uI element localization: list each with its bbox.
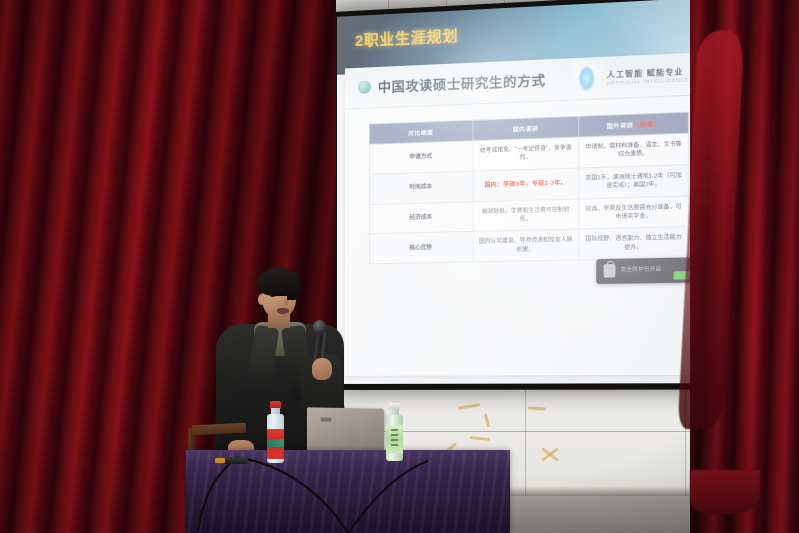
cell-domestic: 统考或推免，“一考定终身”，竞争激烈。 [473, 137, 579, 171]
presenter-mouth [277, 308, 289, 314]
curtain-hem [690, 470, 760, 514]
cell-dimension: 核心优势 [369, 232, 472, 264]
logo-orb-icon [571, 61, 603, 100]
leaf-badge-icon [358, 80, 371, 94]
cell-overseas: 申请制，需材料准备、语言、文书等综合素质。 [579, 133, 688, 168]
toast-text: 安全防护已开启 [621, 265, 662, 273]
cell-domestic: 国内：学硕3年，专硕2-3年。 [473, 168, 579, 202]
slide-content-area: 中国攻读硕士研究生的方式 人工智能 赋能专业 ARTIFICIAL INTELL… [345, 52, 700, 375]
presenter-hand [312, 358, 332, 380]
cable-adapter [224, 457, 248, 464]
water-bottle-red-label[interactable] [266, 401, 285, 463]
laptop-logo [320, 417, 331, 421]
cell-domestic: 相对较低，学费和生活费可控制较低。 [473, 199, 579, 232]
cell-dimension: 申请方式 [369, 141, 472, 175]
cell-domestic: 国内认可度高，导师资源和校友人脉积累。 [473, 229, 579, 262]
slide-notification-toast: 安全防护已开启 [596, 257, 695, 284]
cell-overseas: 英国1年，澳洲硕士通常1-2年（可加速完成）；美国2年。 [579, 164, 688, 198]
tea-bottle-green-label[interactable] [385, 403, 404, 461]
slide-heading: 中国攻读硕士研究生的方式 [378, 70, 546, 96]
slide-logo: 人工智能 赋能专业 ARTIFICIAL INTELLIGENCE [564, 55, 691, 102]
comparison-table: 对比维度 国内读研 国外读研（推荐） 申请方式 统考或推免，“一考定终身”，竞争… [369, 112, 689, 265]
cell-dimension: 时间成本 [369, 171, 472, 204]
col-header-overseas: 国外读研（推荐） [579, 112, 688, 137]
table-body: 申请方式 统考或推免，“一考定终身”，竞争激烈。 申请制，需材料准备、语言、文书… [369, 133, 688, 264]
presenter-ear [258, 294, 265, 305]
cell-overseas: 较高，学费及生活费需充分准备，可申请奖学金。 [579, 196, 688, 230]
lecture-hall-photo: 2职业生涯规划 中国攻读硕士研究生的方式 人工智能 赋能专业 ARTIFICIA… [0, 0, 799, 533]
cell-overseas: 国际视野、语言能力、独立生活能力提升。 [579, 227, 688, 260]
col-header-overseas-label: 国外读研 [607, 123, 634, 130]
slide-surface: 2职业生涯规划 中国攻读硕士研究生的方式 人工智能 赋能专业 ARTIFICIA… [337, 0, 706, 384]
presenter-hair [257, 268, 301, 296]
col-header-overseas-accent: （推荐） [633, 122, 660, 129]
draped-table [186, 452, 510, 533]
projection-screen: 2职业生涯规划 中国攻读硕士研究生的方式 人工智能 赋能专业 ARTIFICIA… [333, 0, 711, 390]
lock-icon [604, 264, 616, 278]
slide-title: 2职业生涯规划 [355, 25, 458, 51]
cell-dimension: 经济成本 [369, 201, 472, 234]
